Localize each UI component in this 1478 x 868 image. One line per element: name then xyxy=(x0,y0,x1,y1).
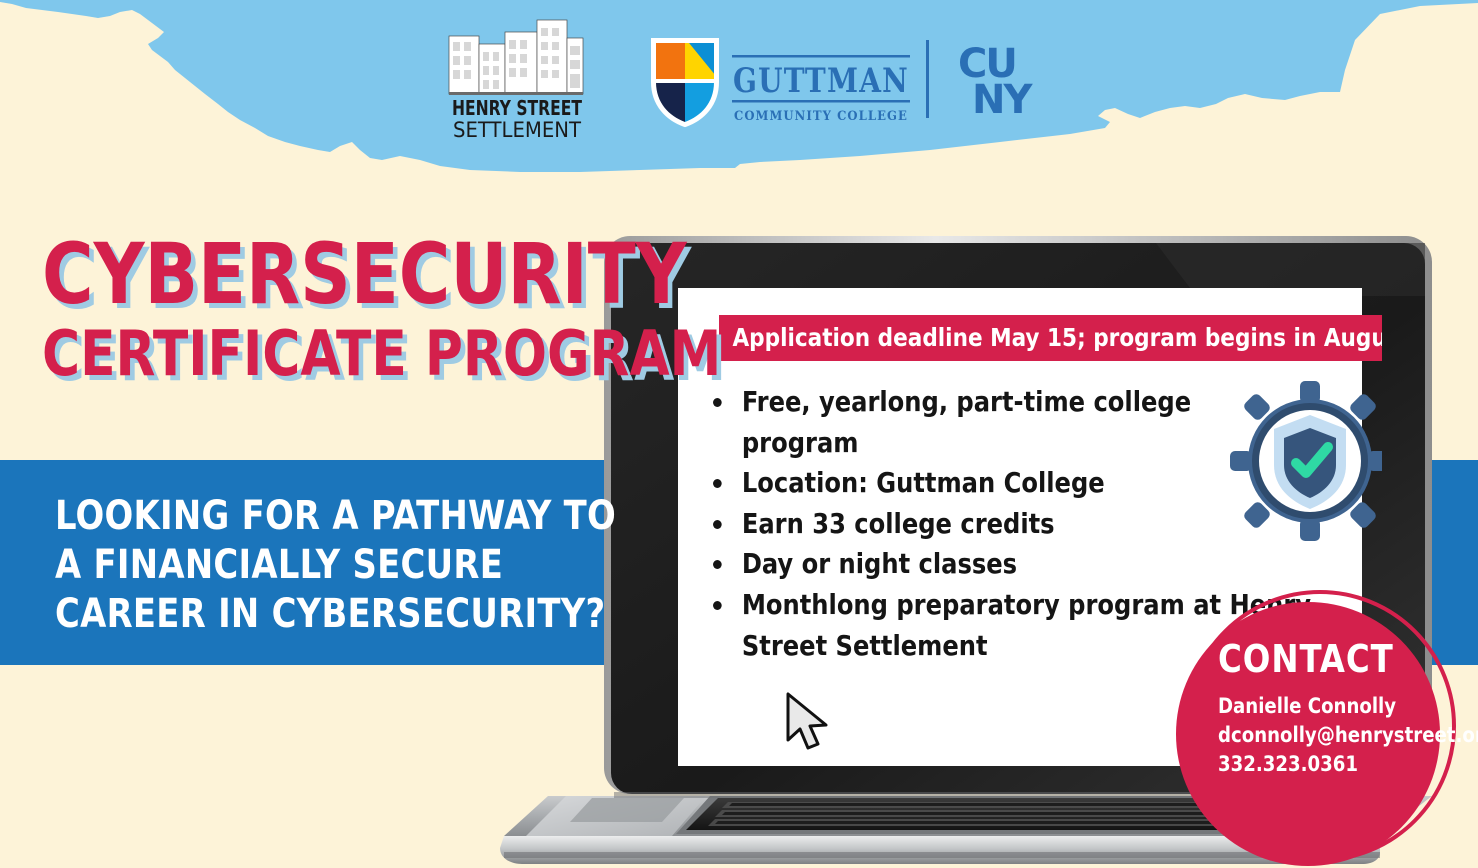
title-line-2: CERTIFICATE PROGRAM xyxy=(42,325,721,382)
hss-line2: SETTLEMENT xyxy=(453,118,581,142)
contact-info: CONTACT Danielle Connolly dconnolly@henr… xyxy=(1218,640,1478,779)
list-item: Free, yearlong, part-time college progra… xyxy=(738,382,1314,463)
page-title: CYBERSECURITY CERTIFICATE PROGRAM xyxy=(42,236,772,382)
guttman-subline: COMMUNITY COLLEGE xyxy=(734,109,908,124)
henry-street-settlement-logo: HENRY STREET SETTLEMENT xyxy=(443,14,591,142)
contact-name: Danielle Connolly xyxy=(1218,692,1478,721)
title-line-1: CYBERSECURITY xyxy=(42,236,721,313)
list-item: Location: Guttman College xyxy=(738,463,1314,504)
list-item: Earn 33 college credits xyxy=(738,504,1314,545)
mouse-cursor-icon xyxy=(784,692,842,754)
cuny-line2: NY xyxy=(972,77,1033,118)
contact-email[interactable]: dconnolly@henrystreet.org xyxy=(1218,721,1478,750)
deadline-badge: Application deadline May 15; program beg… xyxy=(719,315,1382,361)
contact-title: CONTACT xyxy=(1218,640,1478,678)
subtitle-line-1: LOOKING FOR A PATHWAY TO xyxy=(55,492,616,541)
flyer-canvas: HENRY STREET SETTLEMENT GUTTMAN COMMUNIT… xyxy=(0,0,1478,868)
hss-line1: HENRY STREET xyxy=(452,96,583,120)
guttman-community-college-logo: GUTTMAN COMMUNITY COLLEGE xyxy=(650,38,918,128)
logo-divider xyxy=(926,40,929,118)
contact-phone[interactable]: 332.323.0361 xyxy=(1218,750,1478,779)
shield-gear-check-icon xyxy=(1230,381,1382,541)
subtitle-line-2: A FINANCIALLY SECURE xyxy=(55,541,616,590)
guttman-wordmark: GUTTMAN xyxy=(733,61,909,101)
cuny-logo: CU NY xyxy=(952,40,1038,118)
list-item: Day or night classes xyxy=(738,544,1314,585)
subtitle: LOOKING FOR A PATHWAY TO A FINANCIALLY S… xyxy=(55,492,616,638)
subtitle-line-3: CAREER IN CYBERSECURITY? xyxy=(55,590,616,639)
